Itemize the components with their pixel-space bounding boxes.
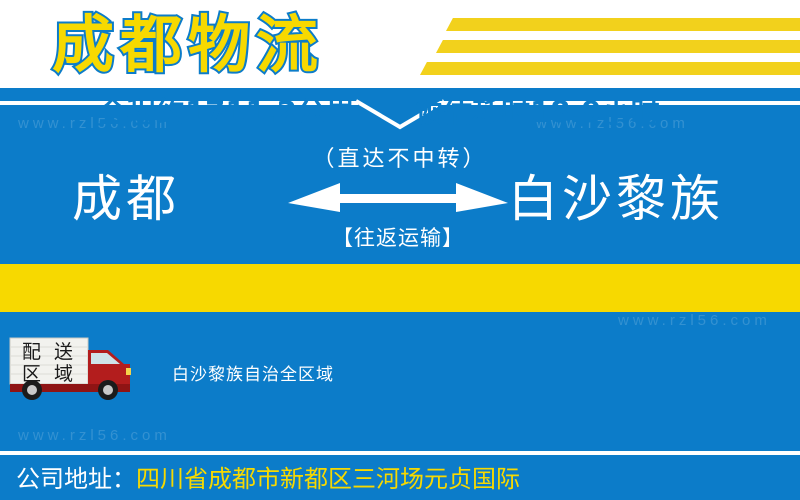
truck-badge-2: 送 — [54, 341, 73, 363]
address-value: 四川省成都市新都区三河场元贞国际 — [136, 465, 520, 493]
roundtrip-note: 【往返运输】 — [268, 222, 528, 252]
stats-band — [0, 264, 800, 312]
company-address: 公司地址：四川省成都市新都区三河场元贞国际 — [16, 459, 520, 499]
truck-badge-1: 配 — [22, 341, 41, 363]
header-band: 成都物流 — [0, 0, 800, 88]
watermark: www.rzl56.com — [618, 312, 771, 329]
watermark: www.rzl56.com — [18, 427, 171, 444]
truck-badge-4: 域 — [54, 363, 73, 385]
delivery-area-text: 白沙黎族自治全区域 — [172, 360, 334, 385]
route-origin: 成都 — [72, 168, 180, 230]
divider-bottom — [0, 451, 800, 455]
main-blue-panel: www.rzl56.com www.rzl56.com www.rzl56.co… — [0, 88, 800, 500]
logistics-banner: 成都物流 www.rzl56.com www.rzl56.com www.rzl… — [0, 0, 800, 500]
decor-stripe-2 — [436, 40, 800, 53]
decor-stripe-3 — [420, 62, 800, 75]
decor-stripe-1 — [446, 18, 800, 31]
stat-distance: 全程约1711.2公里 — [98, 93, 355, 131]
route-destination: 白沙黎族 — [508, 168, 724, 230]
bidirectional-arrow-icon — [288, 181, 508, 219]
stat-duration: 预估耗时18.9小时 — [414, 93, 660, 131]
address-label: 公司地址： — [16, 465, 136, 493]
delivery-truck-icon: 配 送 区 域 — [8, 334, 148, 400]
truck-badge-3: 区 — [22, 363, 41, 385]
page-title: 成都物流 — [52, 2, 324, 88]
